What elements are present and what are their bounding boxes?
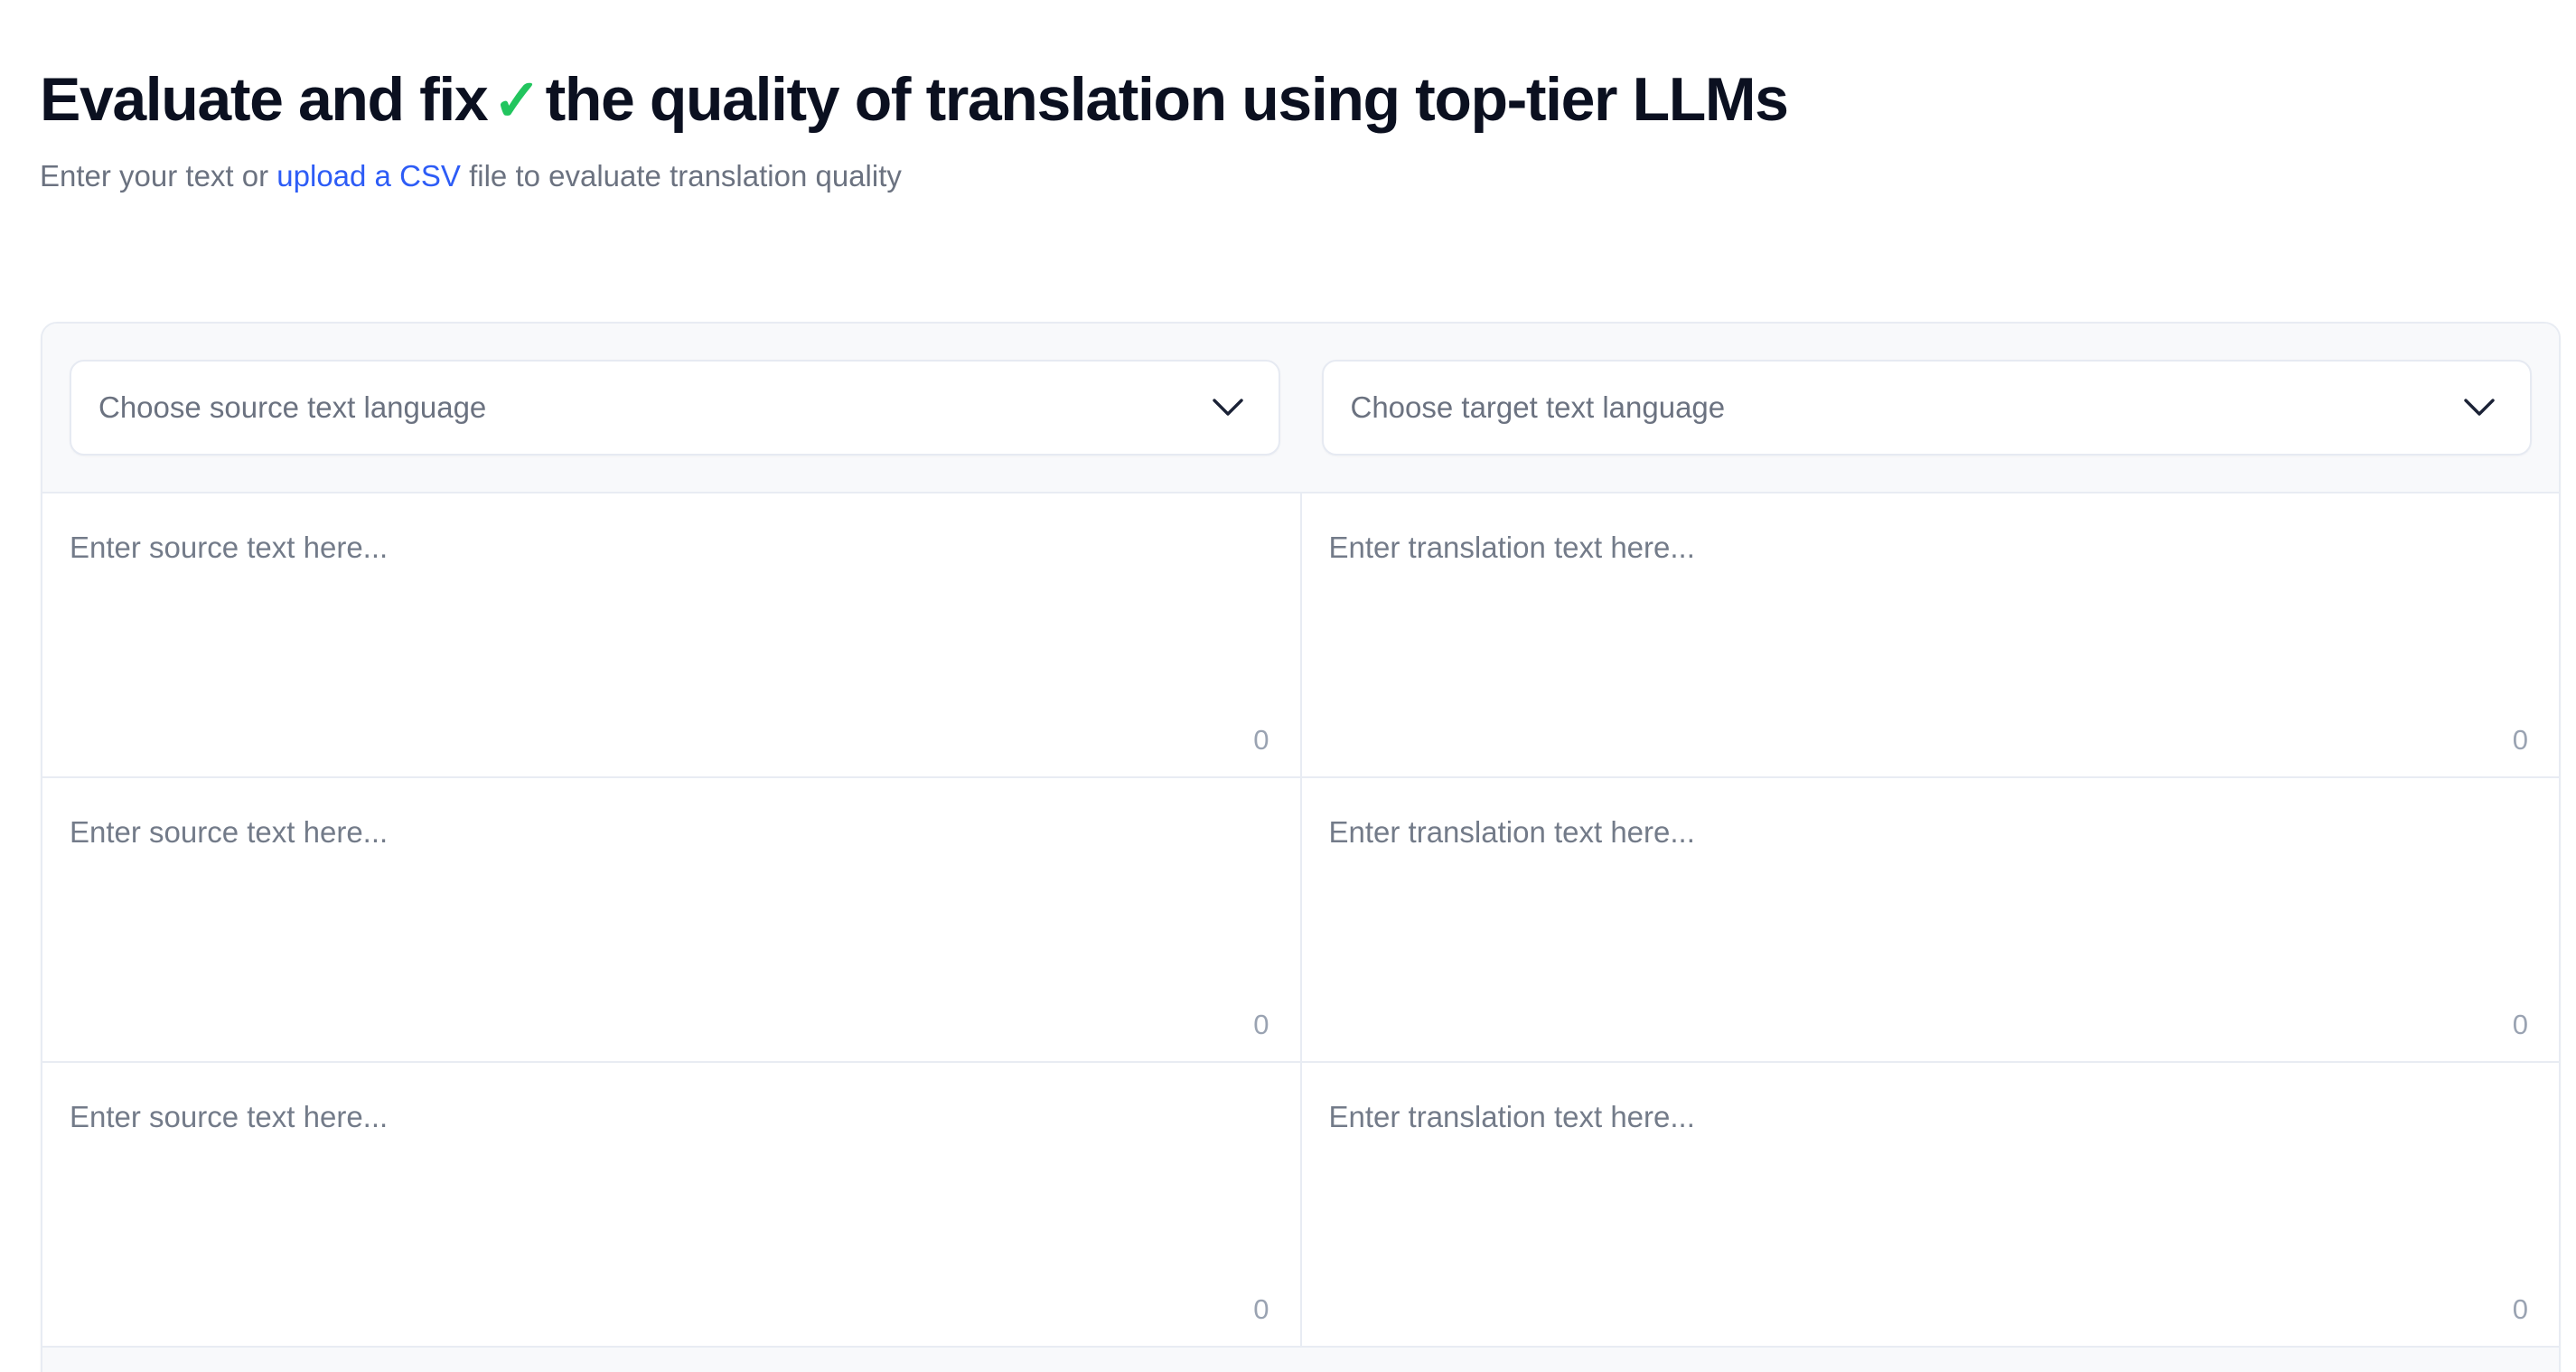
green-check-icon: ✓	[487, 68, 545, 133]
subtitle-prefix: Enter your text or	[40, 159, 268, 193]
source-text-input[interactable]: Enter source text here... 0	[42, 778, 1302, 1061]
page-title: Evaluate and fix✓the quality of translat…	[40, 65, 2576, 134]
target-text-placeholder: Enter translation text here...	[1329, 1097, 2527, 1138]
target-text-input[interactable]: Enter translation text here... 0	[1302, 493, 2560, 776]
target-text-input[interactable]: Enter translation text here... 0	[1302, 1063, 2560, 1346]
target-char-count: 0	[2513, 724, 2528, 756]
source-char-count: 0	[1253, 1009, 1269, 1041]
translation-evaluator-card: Choose source text language Choose targe…	[41, 322, 2561, 1372]
source-language-select[interactable]: Choose source text language	[70, 360, 1280, 456]
target-text-input[interactable]: Enter translation text here... 0	[1302, 778, 2560, 1061]
target-language-select[interactable]: Choose target text language	[1322, 360, 2533, 456]
source-text-placeholder: Enter source text here...	[70, 528, 1268, 569]
target-language-select-label: Choose target text language	[1351, 390, 2462, 425]
source-text-placeholder: Enter source text here...	[70, 813, 1268, 853]
translation-rows: Enter source text here... 0 Enter transl…	[42, 493, 2559, 1348]
app-root: Evaluate and fix✓the quality of translat…	[0, 0, 2576, 1372]
source-text-input[interactable]: Enter source text here... 0	[42, 1063, 1302, 1346]
chevron-down-icon	[1210, 390, 1246, 426]
table-row: Enter source text here... 0 Enter transl…	[42, 493, 2559, 778]
table-row: Enter source text here... 0 Enter transl…	[42, 778, 2559, 1063]
page-title-part-1: Evaluate and fix	[40, 65, 487, 134]
table-row: Enter source text here... 0 Enter transl…	[42, 1063, 2559, 1348]
language-selector-band: Choose source text language Choose targe…	[42, 324, 2559, 493]
source-text-placeholder: Enter source text here...	[70, 1097, 1268, 1138]
page-title-part-2: the quality of translation using top-tie…	[546, 65, 1788, 134]
card-footer-band	[42, 1348, 2559, 1372]
target-language-select-wrap: Choose target text language	[1322, 360, 2533, 456]
source-text-input[interactable]: Enter source text here... 0	[42, 493, 1302, 776]
target-char-count: 0	[2513, 1293, 2528, 1326]
source-language-select-label: Choose source text language	[98, 390, 1210, 425]
upload-csv-link[interactable]: upload a CSV	[276, 159, 461, 193]
subtitle-suffix: file to evaluate translation quality	[469, 159, 902, 193]
source-char-count: 0	[1253, 1293, 1269, 1326]
target-text-placeholder: Enter translation text here...	[1329, 528, 2527, 569]
source-char-count: 0	[1253, 724, 1269, 756]
page-subtitle: Enter your text or upload a CSV file to …	[40, 157, 2576, 196]
target-char-count: 0	[2513, 1009, 2528, 1041]
chevron-down-icon	[2461, 390, 2497, 426]
page-header: Evaluate and fix✓the quality of translat…	[0, 0, 2576, 196]
source-language-select-wrap: Choose source text language	[70, 360, 1280, 456]
target-text-placeholder: Enter translation text here...	[1329, 813, 2527, 853]
